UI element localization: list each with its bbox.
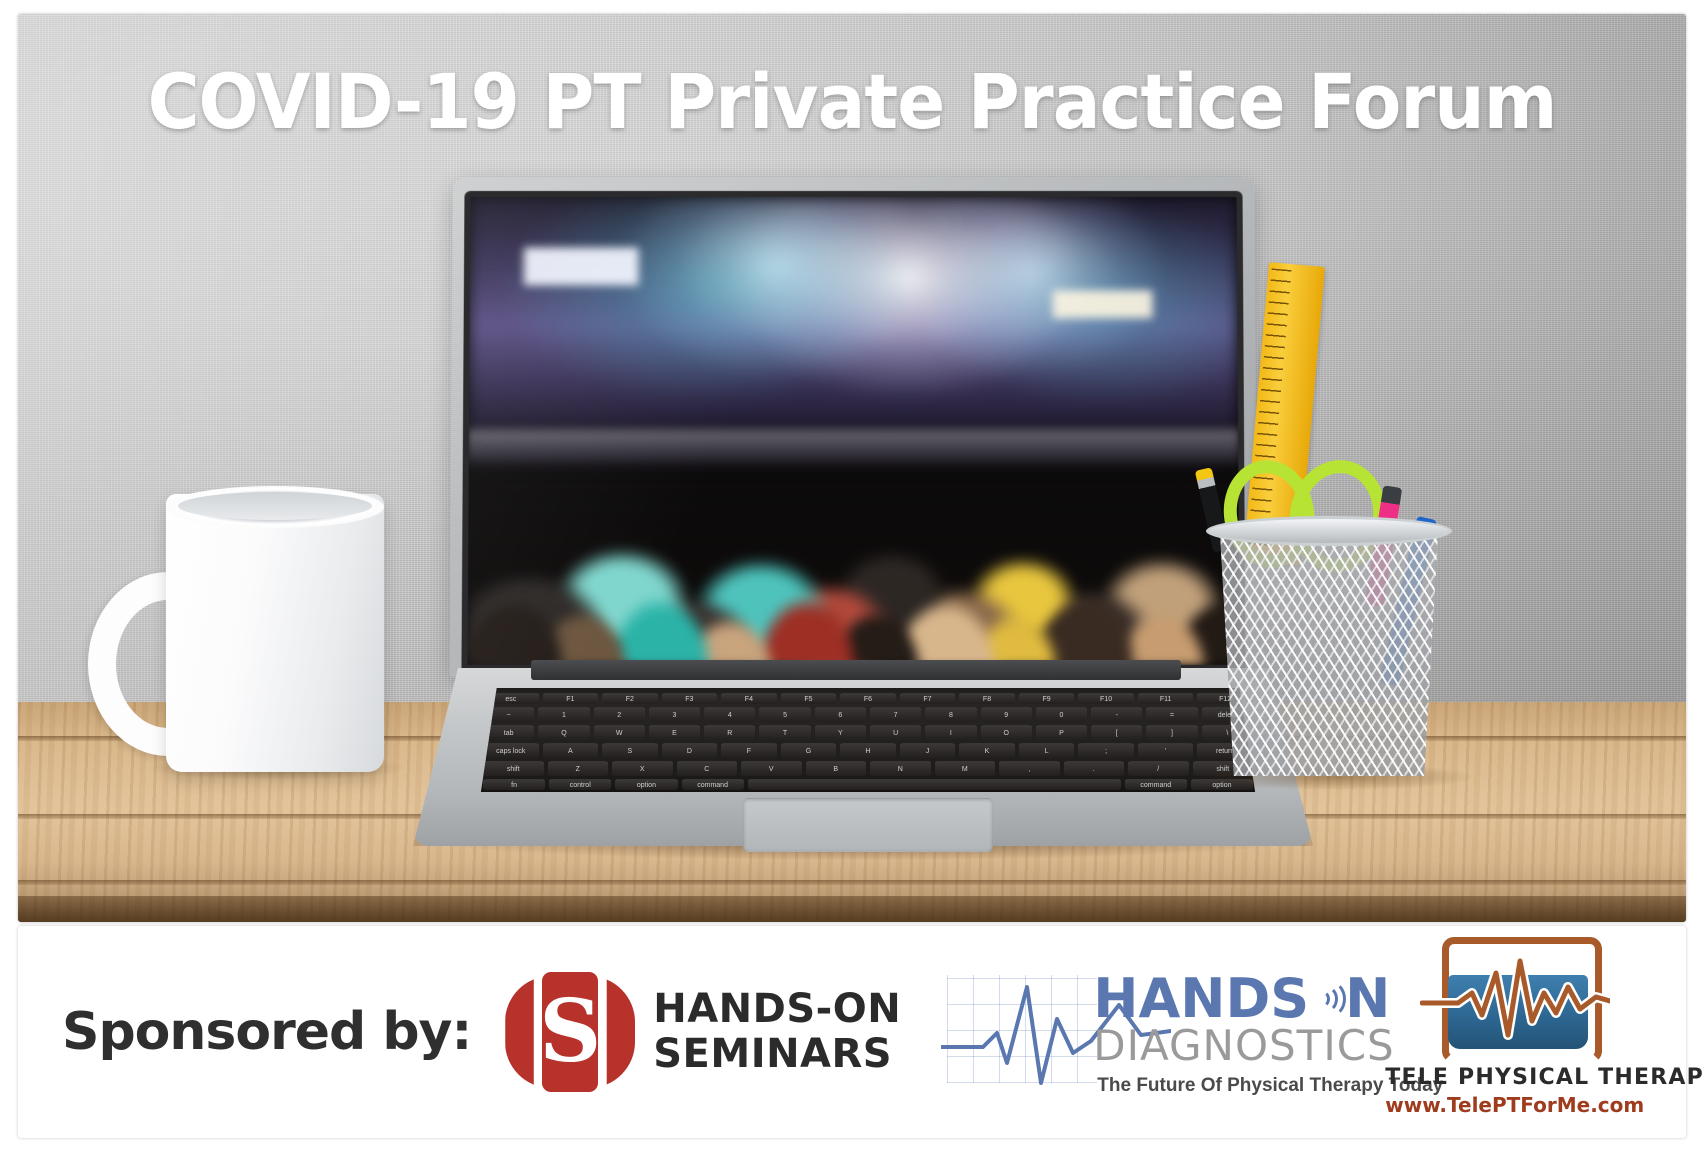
laptop-screen <box>468 197 1240 665</box>
keyboard-key[interactable]: - <box>1091 707 1142 722</box>
keyboard-key[interactable]: F <box>721 743 777 758</box>
keyboard-key[interactable]: = <box>1146 707 1197 722</box>
keyboard-key[interactable]: 9 <box>981 707 1032 722</box>
keyboard-key[interactable]: ; <box>1078 743 1134 758</box>
keyboard-key[interactable]: option <box>615 779 677 790</box>
hands-on-diagnostics-wordmark: HANDS N DIAGNOSTICS <box>1093 973 1394 1070</box>
laptop-hinge <box>531 660 1181 680</box>
keyboard-key[interactable]: Y <box>815 725 866 740</box>
keyboard-key[interactable]: F4 <box>721 693 777 704</box>
keyboard-key[interactable]: I <box>925 725 976 740</box>
tpt-url[interactable]: www.TelePTForMe.com <box>1385 1093 1635 1117</box>
sponsor-logo-tele-physical-therapy[interactable]: TELE PHYSICAL THERAPY www.TelePTForMe.co… <box>1385 937 1635 1127</box>
stage-spotlights-left <box>524 248 639 285</box>
keyboard-key[interactable]: command <box>1125 779 1187 790</box>
keyboard-key[interactable]: H <box>840 743 896 758</box>
keyboard-key[interactable]: 6 <box>815 707 866 722</box>
keyboard-key[interactable]: command <box>682 779 744 790</box>
hands-on-seminars-wordmark: HANDS-ON SEMINARS <box>653 987 901 1077</box>
keyboard-key[interactable]: 2 <box>594 707 645 722</box>
keyboard-key[interactable]: A <box>543 743 599 758</box>
keyboard-key[interactable]: ] <box>1146 725 1197 740</box>
keyboard-key[interactable]: P <box>1036 725 1087 740</box>
keyboard-key[interactable]: 0 <box>1036 707 1087 722</box>
hod-diagnostics-text: DIAGNOSTICS <box>1093 1021 1394 1070</box>
keyboard-key[interactable]: fn <box>483 779 545 790</box>
keyboard-key[interactable]: 3 <box>649 707 700 722</box>
keyboard-key[interactable]: J <box>900 743 956 758</box>
keyboard-key[interactable]: R <box>704 725 755 740</box>
screen-bezel <box>461 191 1245 671</box>
hod-hands-text: HANDS N <box>1093 973 1394 1025</box>
laptop: escF1F2F3F4F5F6F7F8F9F10F11F12 ~12345678… <box>413 176 1313 856</box>
page-title: COVID-19 PT Private Practice Forum <box>76 62 1627 142</box>
sponsor-bar: Sponsored by: S HANDS-ON SEMINARS HAND <box>18 926 1686 1138</box>
keyboard-key[interactable]: 8 <box>925 707 976 722</box>
hod-word-hands: HANDS <box>1093 973 1309 1025</box>
keyboard-key[interactable]: 7 <box>870 707 921 722</box>
mesh-pencil-cup <box>1198 264 1498 804</box>
tpt-mark-icon <box>1426 937 1594 1057</box>
pencup-rim <box>1206 516 1452 546</box>
tpt-title: TELE PHYSICAL THERAPY <box>1385 1065 1635 1090</box>
keyboard-key[interactable]: Z <box>548 761 609 776</box>
keyboard-key[interactable]: shift <box>483 761 544 776</box>
keyboard-key[interactable]: M <box>935 761 996 776</box>
keyboard-key[interactable]: F1 <box>543 693 599 704</box>
keyboard-key[interactable]: control <box>549 779 611 790</box>
poster-canvas: COVID-19 PT Private Practice Forum <box>0 0 1704 1154</box>
laptop-lid <box>449 177 1257 677</box>
keyboard-key[interactable]: F11 <box>1138 693 1194 704</box>
audience-front-row <box>468 477 1240 665</box>
keyboard-key[interactable]: V <box>741 761 802 776</box>
keyboard-key[interactable]: F6 <box>840 693 896 704</box>
keyboard-key[interactable]: F9 <box>1019 693 1075 704</box>
keyboard-key[interactable]: W <box>594 725 645 740</box>
keyboard-key[interactable]: K <box>959 743 1015 758</box>
keyboard-key[interactable]: U <box>870 725 921 740</box>
coffee-mug <box>66 484 396 784</box>
pencup-mesh-body <box>1210 526 1448 776</box>
logo-letter-s: S <box>542 972 598 1092</box>
keyboard-key[interactable]: C <box>677 761 738 776</box>
keyboard-key[interactable]: T <box>759 725 810 740</box>
hos-line-1: HANDS-ON <box>653 987 901 1032</box>
keyboard-key[interactable]: ' <box>1138 743 1194 758</box>
keyboard-key[interactable]: [ <box>1091 725 1142 740</box>
keyboard-key[interactable]: Q <box>538 725 589 740</box>
keyboard-key[interactable]: 4 <box>704 707 755 722</box>
keyboard-key[interactable]: 5 <box>759 707 810 722</box>
mug-body <box>166 494 384 772</box>
keyboard-key[interactable]: E <box>649 725 700 740</box>
keyboard-key[interactable]: G <box>781 743 837 758</box>
keyboard-key[interactable]: L <box>1019 743 1075 758</box>
keyboard-key[interactable]: B <box>806 761 867 776</box>
keyboard-key[interactable] <box>748 779 1121 790</box>
keyboard-key[interactable]: D <box>662 743 718 758</box>
laptop-trackpad[interactable] <box>743 798 993 852</box>
keyboard-key[interactable]: caps lock <box>483 743 539 758</box>
keyboard-key[interactable]: F7 <box>900 693 956 704</box>
keyboard-key[interactable]: , <box>999 761 1060 776</box>
hod-word-n: N <box>1345 973 1390 1025</box>
keyboard-key[interactable]: / <box>1128 761 1189 776</box>
keyboard-key[interactable]: S <box>602 743 658 758</box>
sponsored-by-label: Sponsored by: <box>62 1002 471 1062</box>
keyboard-key[interactable]: F5 <box>781 693 837 704</box>
mug-interior <box>178 492 372 520</box>
desk-front-edge <box>18 896 1686 922</box>
tpt-heartbeat-icon <box>1420 947 1610 1043</box>
keyboard-key[interactable]: X <box>612 761 673 776</box>
keyboard-key[interactable]: 1 <box>538 707 589 722</box>
laptop-keyboard[interactable]: escF1F2F3F4F5F6F7F8F9F10F11F12 ~12345678… <box>473 688 1263 792</box>
keyboard-key[interactable]: F3 <box>662 693 718 704</box>
hero-photo: COVID-19 PT Private Practice Forum <box>18 14 1686 922</box>
sponsor-logo-hands-on-seminars[interactable]: S HANDS-ON SEMINARS <box>505 972 901 1092</box>
keyboard-key[interactable]: F2 <box>602 693 658 704</box>
sound-wave-icon <box>1310 979 1344 1019</box>
hos-line-2: SEMINARS <box>653 1032 901 1077</box>
stage-spotlights-right <box>1053 290 1153 318</box>
hands-on-seminars-mark-icon: S <box>505 972 635 1092</box>
keyboard-key[interactable]: F10 <box>1078 693 1134 704</box>
keyboard-key[interactable]: F8 <box>959 693 1015 704</box>
keyboard-key[interactable]: . <box>1064 761 1125 776</box>
sponsor-logo-hands-on-diagnostics[interactable]: HANDS N DIAGNOSTICS The Future Of Physic… <box>941 957 1341 1107</box>
keyboard-key[interactable]: O <box>981 725 1032 740</box>
keyboard-key[interactable]: N <box>870 761 931 776</box>
